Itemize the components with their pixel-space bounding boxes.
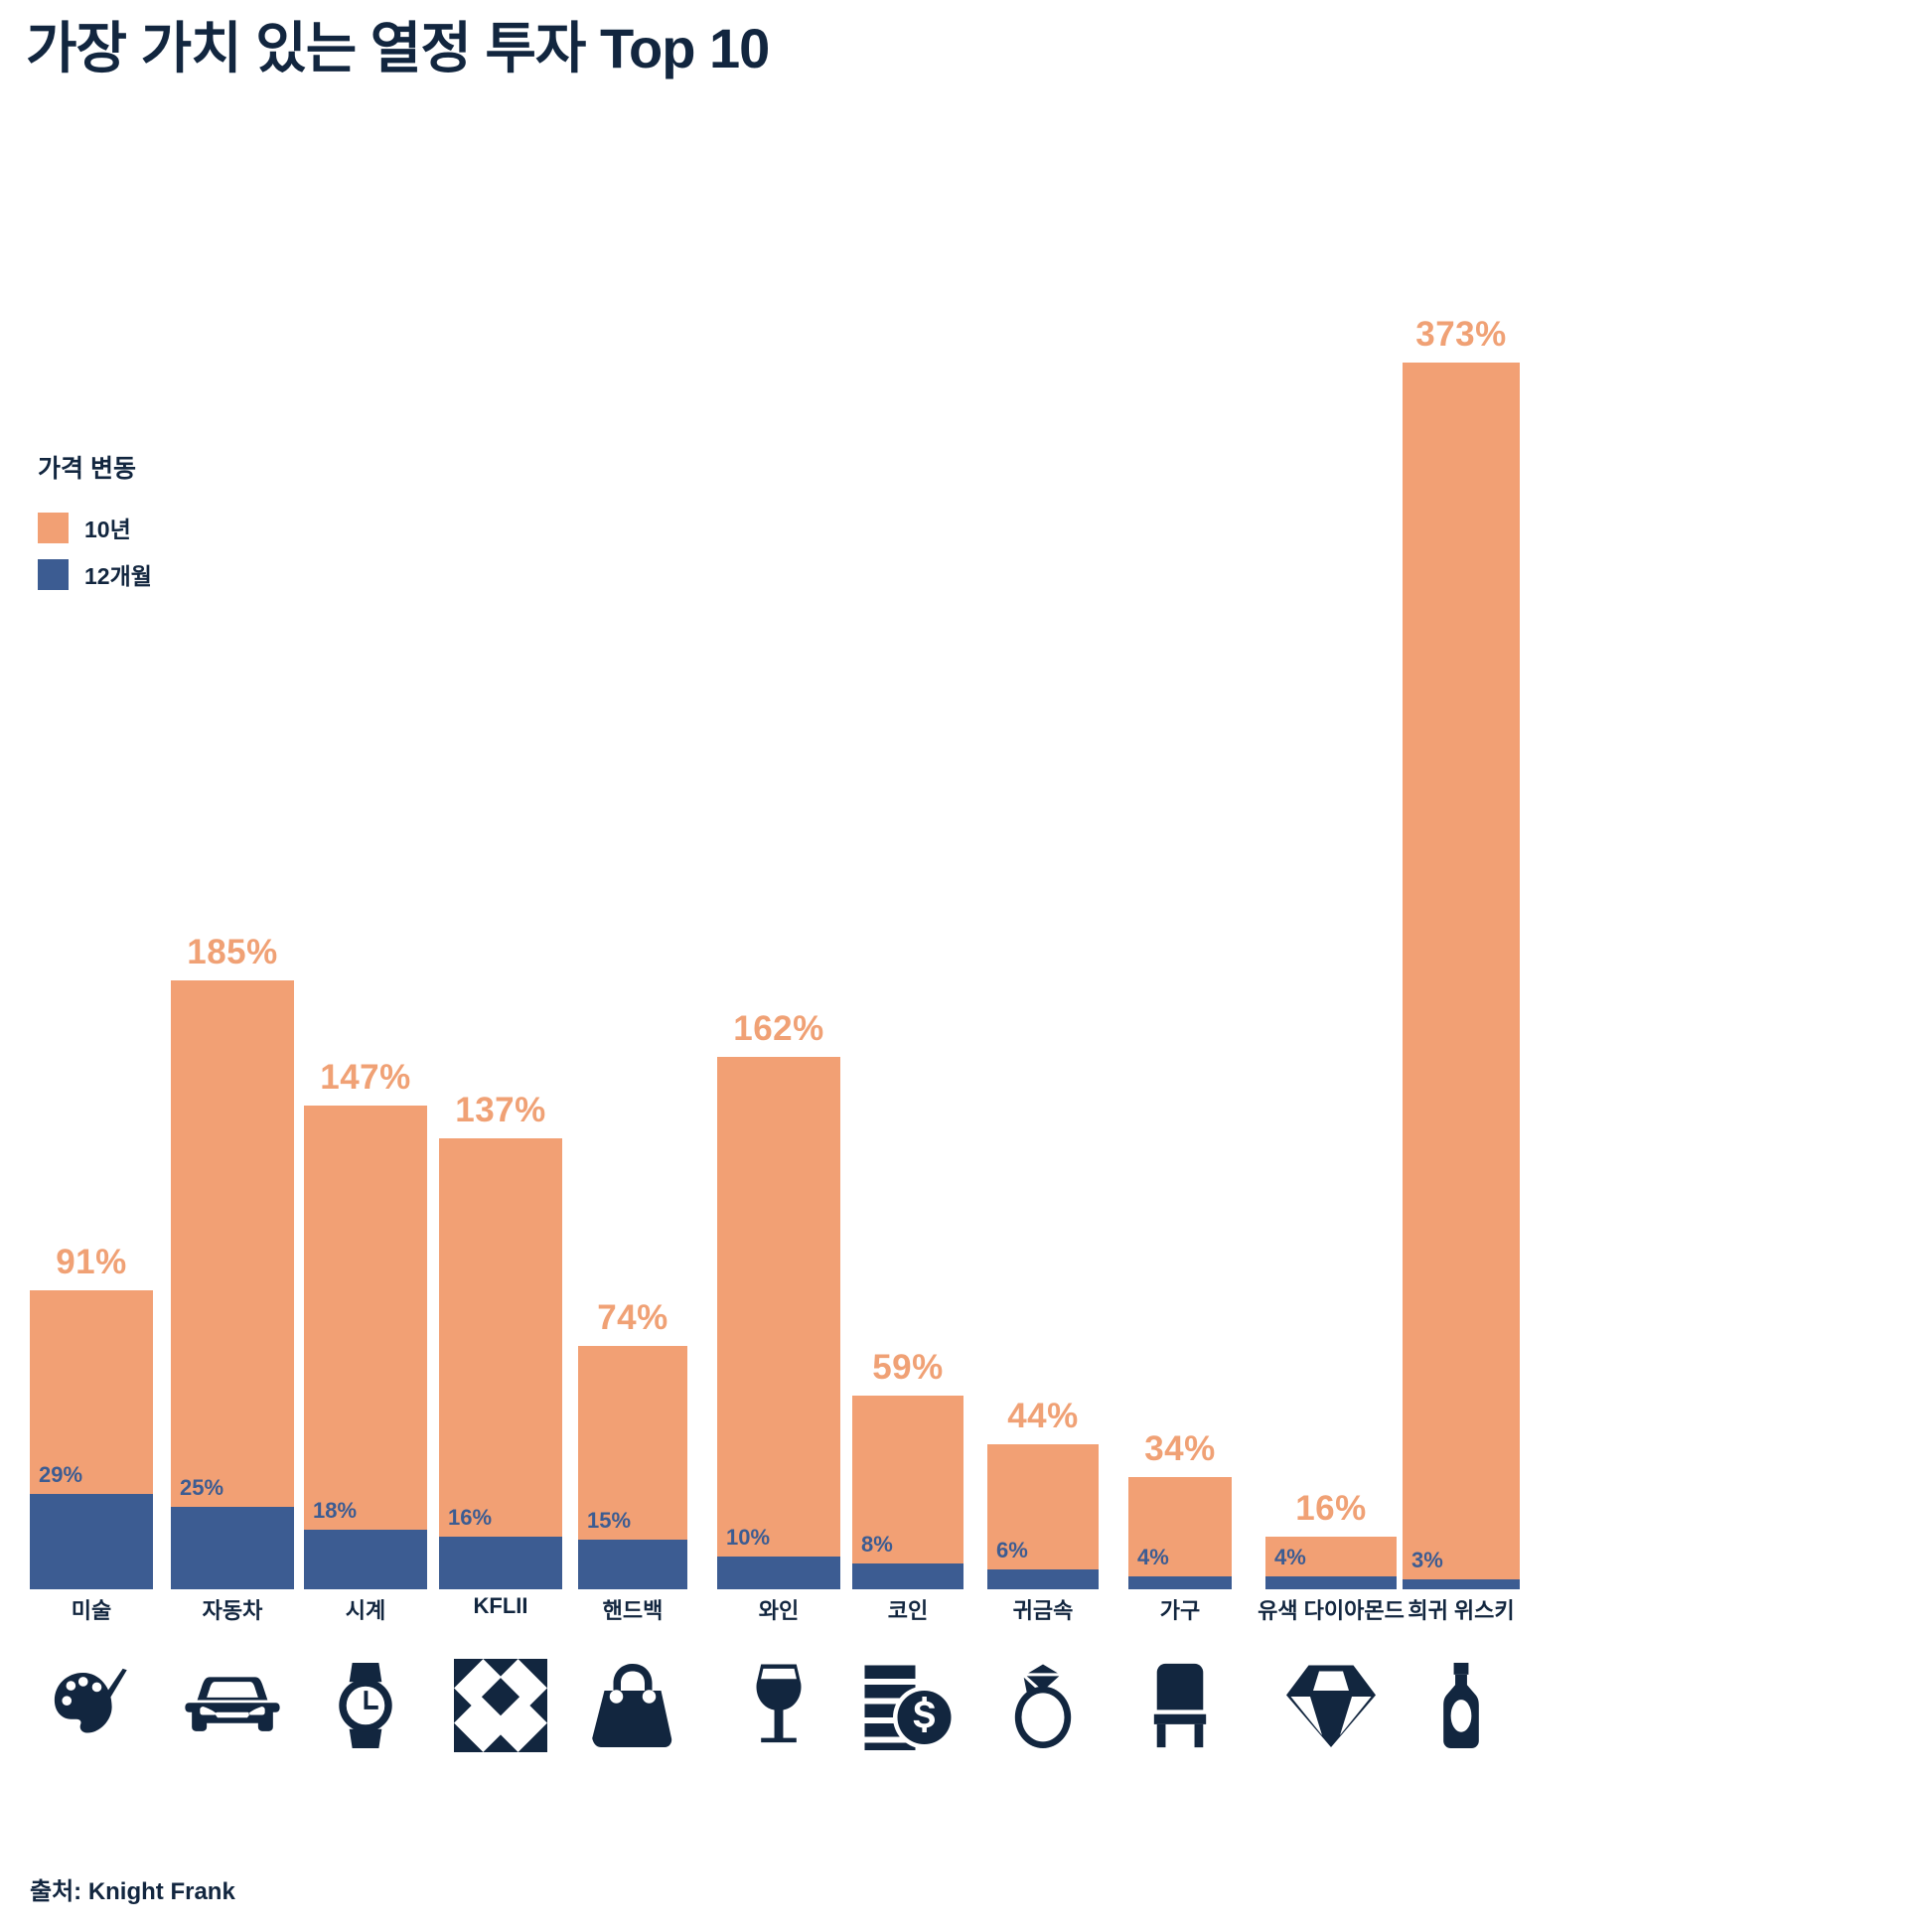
bar-value-label-ten-year: 162% xyxy=(717,1009,840,1049)
bar-segment-twelve-month[interactable] xyxy=(439,1537,562,1589)
bar-group[interactable]: 147%18% xyxy=(304,1106,427,1589)
category-axis: 미술자동차시계KFLII핸드백와인코인귀금속가구유색 다이아몬드희귀 위스키 xyxy=(30,1593,1897,1633)
bar-value-label-ten-year: 147% xyxy=(304,1058,427,1098)
bar-segment-ten-year[interactable]: 6% xyxy=(987,1444,1099,1569)
source-note: 출처: Knight Frank xyxy=(30,1871,235,1906)
bar-value-label-ten-year: 34% xyxy=(1128,1429,1232,1469)
bar-group[interactable]: 59%8% xyxy=(852,1396,963,1589)
bar-group[interactable]: 16%4% xyxy=(1265,1537,1397,1589)
bar-segment-ten-year[interactable]: 25% xyxy=(171,980,294,1507)
bar-value-label-ten-year: 91% xyxy=(30,1243,153,1282)
bar-chart-plot: 91%29%185%25%147%18%137%16%74%15%162%10%… xyxy=(30,119,1897,1589)
bar-value-label-ten-year: 137% xyxy=(439,1091,562,1130)
bar-segment-ten-year[interactable]: 4% xyxy=(1128,1477,1232,1575)
bar-segment-ten-year[interactable]: 18% xyxy=(304,1106,427,1530)
bar-value-label-twelve-month: 4% xyxy=(1137,1545,1169,1570)
bar-value-label-twelve-month: 25% xyxy=(180,1475,223,1501)
bar-value-label-twelve-month: 6% xyxy=(996,1538,1028,1563)
bar-segment-twelve-month[interactable] xyxy=(304,1530,427,1589)
bar-group[interactable]: 137%16% xyxy=(439,1138,562,1589)
bar-segment-ten-year[interactable]: 29% xyxy=(30,1290,153,1494)
bar-value-label-ten-year: 74% xyxy=(578,1298,687,1338)
category-icon-row xyxy=(30,1651,1897,1780)
bar-segment-twelve-month[interactable] xyxy=(717,1557,840,1589)
bar-segment-twelve-month[interactable] xyxy=(1403,1579,1520,1589)
bar-group[interactable]: 44%6% xyxy=(987,1444,1099,1589)
whisky-bottle-icon xyxy=(1363,1651,1559,1760)
bar-group[interactable]: 162%10% xyxy=(717,1057,840,1589)
bar-value-label-twelve-month: 10% xyxy=(726,1525,770,1551)
page-title: 가장 가치 있는 열정 투자 Top 10 xyxy=(26,4,769,84)
bar-value-label-twelve-month: 16% xyxy=(448,1505,492,1531)
chart-page: 가장 가치 있는 열정 투자 Top 10 가격 변동 10년 12개월 91%… xyxy=(0,0,1927,1932)
bar-value-label-twelve-month: 4% xyxy=(1274,1545,1306,1570)
bar-value-label-ten-year: 44% xyxy=(987,1397,1099,1436)
bar-segment-twelve-month[interactable] xyxy=(852,1563,963,1589)
bar-segment-twelve-month[interactable] xyxy=(578,1540,687,1589)
bar-segment-ten-year[interactable]: 3% xyxy=(1403,363,1520,1579)
bar-value-label-twelve-month: 8% xyxy=(861,1532,893,1558)
bar-segment-ten-year[interactable]: 10% xyxy=(717,1057,840,1557)
bar-value-label-twelve-month: 29% xyxy=(39,1462,82,1488)
bar-group[interactable]: 373%3% xyxy=(1403,363,1520,1589)
bar-segment-twelve-month[interactable] xyxy=(171,1507,294,1589)
bar-value-label-twelve-month: 3% xyxy=(1411,1548,1443,1573)
bar-segment-ten-year[interactable]: 4% xyxy=(1265,1537,1397,1576)
bar-group[interactable]: 185%25% xyxy=(171,980,294,1589)
bar-segment-ten-year[interactable]: 8% xyxy=(852,1396,963,1563)
bar-group[interactable]: 91%29% xyxy=(30,1290,153,1589)
bar-value-label-twelve-month: 15% xyxy=(587,1508,631,1534)
category-label: 희귀 위스키 xyxy=(1363,1593,1559,1625)
bar-segment-twelve-month[interactable] xyxy=(30,1494,153,1589)
bar-value-label-ten-year: 373% xyxy=(1403,315,1520,355)
bar-value-label-ten-year: 59% xyxy=(852,1348,963,1388)
bar-value-label-twelve-month: 18% xyxy=(313,1498,357,1524)
bar-value-label-ten-year: 185% xyxy=(171,933,294,972)
bar-value-label-ten-year: 16% xyxy=(1265,1489,1397,1529)
bar-group[interactable]: 34%4% xyxy=(1128,1477,1232,1589)
bar-segment-twelve-month[interactable] xyxy=(1128,1576,1232,1589)
bar-segment-ten-year[interactable]: 15% xyxy=(578,1346,687,1540)
bar-group[interactable]: 74%15% xyxy=(578,1346,687,1589)
bar-segment-twelve-month[interactable] xyxy=(1265,1576,1397,1589)
bar-segment-ten-year[interactable]: 16% xyxy=(439,1138,562,1537)
bar-segment-twelve-month[interactable] xyxy=(987,1569,1099,1589)
